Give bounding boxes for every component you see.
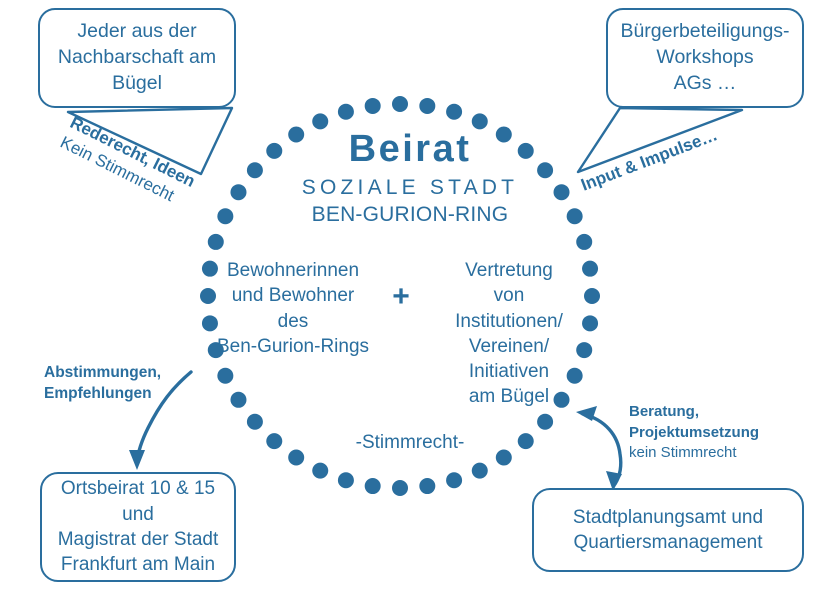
bubble-neighbourhood-line: Jeder aus der xyxy=(58,19,216,45)
ring-dot xyxy=(419,478,435,494)
ring-dot xyxy=(392,480,408,496)
members-residents-line: Ben-Gurion-Rings xyxy=(208,334,378,359)
ring-dot xyxy=(312,113,328,129)
ring-dot xyxy=(247,414,263,430)
subtitle-ben-gurion-ring: BEN-GURION-RING xyxy=(0,203,820,227)
label-abstimmungen-line: Empfehlungen xyxy=(44,384,161,405)
bubble-workshops-line: AGs … xyxy=(620,71,789,97)
ring-dot xyxy=(446,472,462,488)
ring-dot xyxy=(365,98,381,114)
label-beratung-note: kein Stimmrecht xyxy=(629,443,759,464)
bubble-neighbourhood-line: Nachbarschaft am xyxy=(58,45,216,71)
members-institutions-line: am Bügel xyxy=(424,384,594,409)
ring-dot xyxy=(365,478,381,494)
members-institutions-line: Institutionen/ xyxy=(424,309,594,334)
label-abstimmungen-line: Abstimmungen, xyxy=(44,363,161,384)
box-ortsbeirat-magistrat: Ortsbeirat 10 & 15 und Magistrat der Sta… xyxy=(40,472,236,582)
label-abstimmungen-empfehlungen: Abstimmungen, Empfehlungen xyxy=(44,363,161,405)
label-beratung-line: Projektumsetzung xyxy=(629,423,759,444)
bubble-neighbourhood: Jeder aus der Nachbarschaft am Bügel xyxy=(38,8,236,108)
ring-dot xyxy=(576,234,592,250)
ring-dot xyxy=(446,104,462,120)
ring-dot xyxy=(537,414,553,430)
members-residents-line: und Bewohner xyxy=(208,283,378,308)
members-institutions-line: Vereinen/ xyxy=(424,334,594,359)
bubble-workshops: Bürgerbeteiligungs- Workshops AGs … xyxy=(606,8,804,108)
members-residents-line: des xyxy=(208,309,378,334)
members-residents-column: Bewohnerinnen und Bewohner des Ben-Gurio… xyxy=(208,258,378,359)
box-stadtplanungsamt: Stadtplanungsamt und Quartiersmanagement xyxy=(532,488,804,572)
members-institutions-line: Vertretung xyxy=(424,258,594,283)
membership-columns: Bewohnerinnen und Bewohner des Ben-Gurio… xyxy=(196,258,606,410)
box-ortsbeirat-line: Ortsbeirat 10 & 15 xyxy=(58,476,219,501)
box-ortsbeirat-line: Frankfurt am Main xyxy=(58,552,219,577)
members-residents-line: Bewohnerinnen xyxy=(208,258,378,283)
members-institutions-line: von xyxy=(424,283,594,308)
box-ortsbeirat-line: und xyxy=(58,502,219,527)
bubble-neighbourhood-line: Bügel xyxy=(58,71,216,97)
members-institutions-column: Vertretung von Institutionen/ Vereinen/ … xyxy=(424,258,594,410)
ring-dot xyxy=(338,104,354,120)
ring-dot xyxy=(208,234,224,250)
bubble-workshops-line: Bürgerbeteiligungs- xyxy=(620,19,789,45)
label-beratung-line: Beratung, xyxy=(629,402,759,423)
box-stadtplanungsamt-line: Quartiersmanagement xyxy=(573,530,763,555)
plus-icon: + xyxy=(388,258,414,313)
ring-dot xyxy=(312,463,328,479)
ring-dot xyxy=(472,113,488,129)
diagram-canvas: Beirat SOZIALE STADT BEN-GURION-RING Bew… xyxy=(0,0,820,600)
ring-dot xyxy=(472,463,488,479)
ring-dot xyxy=(419,98,435,114)
bubble-workshops-line: Workshops xyxy=(620,45,789,71)
box-ortsbeirat-line: Magistrat der Stadt xyxy=(58,527,219,552)
box-stadtplanungsamt-line: Stadtplanungsamt und xyxy=(573,505,763,530)
label-beratung-projektumsetzung: Beratung, Projektumsetzung kein Stimmrec… xyxy=(629,402,759,464)
ring-dot xyxy=(392,96,408,112)
members-institutions-line: Initiativen xyxy=(424,359,594,384)
ring-dot xyxy=(338,472,354,488)
